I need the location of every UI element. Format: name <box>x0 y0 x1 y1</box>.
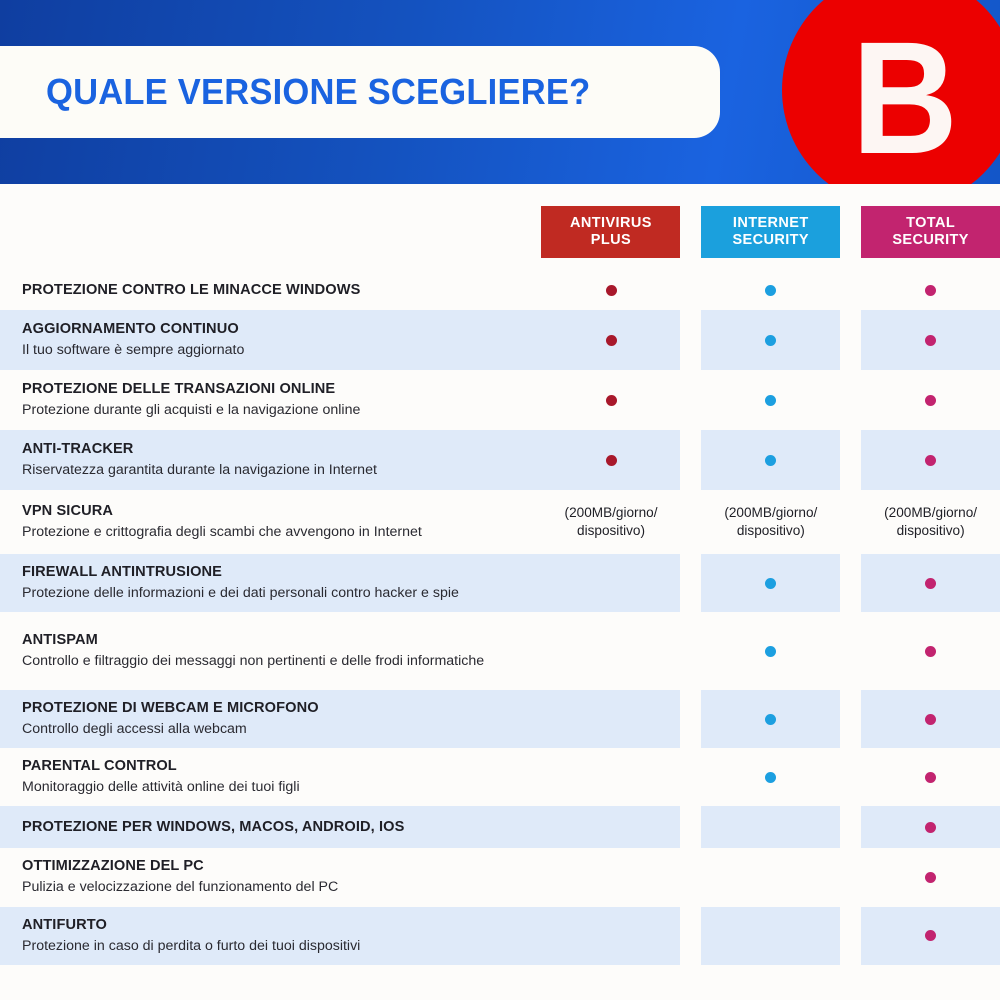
feature-title: PROTEZIONE DI WEBCAM E MICROFONO <box>22 699 526 718</box>
value-cell-total-security <box>861 270 1000 310</box>
cell-text: (200MB/giorno/ dispositivo) <box>861 504 1000 539</box>
page-header: QUALE VERSIONE SCEGLIERE? B <box>0 0 1000 184</box>
column-header-total-security[interactable]: TOTAL SECURITY <box>861 206 1000 258</box>
feature-subtitle: Controllo e filtraggio dei messaggi non … <box>22 652 526 671</box>
value-cell-antivirus-plus <box>542 270 681 310</box>
table-row: FIREWALL ANTINTRUSIONEProtezione delle i… <box>0 554 1000 612</box>
column-header-line2: SECURITY <box>732 232 809 249</box>
table-row: OTTIMIZZAZIONE DEL PCPulizia e velocizza… <box>0 848 1000 906</box>
comparison-infographic: QUALE VERSIONE SCEGLIERE? B ANTIVIRUS PL… <box>0 0 1000 1000</box>
check-dot-icon <box>765 455 776 466</box>
feature-title: FIREWALL ANTINTRUSIONE <box>22 563 526 582</box>
value-cell-internet-security <box>701 554 840 612</box>
value-cell-internet-security <box>701 430 840 490</box>
column-header-antivirus-plus[interactable]: ANTIVIRUS PLUS <box>541 206 680 258</box>
feature-subtitle: Protezione durante gli acquisti e la nav… <box>22 401 526 420</box>
check-dot-icon <box>765 335 776 346</box>
value-cell-antivirus-plus <box>542 848 681 906</box>
value-cell-total-security <box>861 310 1000 370</box>
feature-cell: PROTEZIONE PER WINDOWS, MACOS, ANDROID, … <box>0 806 542 848</box>
check-dot-icon <box>925 455 936 466</box>
bitdefender-logo-icon: B <box>782 0 1000 184</box>
value-cell-internet-security <box>701 748 840 806</box>
value-cell-total-security <box>861 690 1000 748</box>
feature-title: ANTIFURTO <box>22 916 526 935</box>
value-cell-total-security <box>861 806 1000 848</box>
value-cell-antivirus-plus <box>542 748 681 806</box>
feature-cell: ANTISPAMControllo e filtraggio dei messa… <box>0 612 542 690</box>
value-cell-internet-security <box>701 310 840 370</box>
value-cell-total-security <box>861 612 1000 690</box>
value-cell-antivirus-plus: (200MB/giorno/ dispositivo) <box>542 490 681 554</box>
feature-cell: ANTIFURTOProtezione in caso di perdita o… <box>0 907 542 965</box>
value-cell-antivirus-plus <box>542 690 681 748</box>
check-dot-icon <box>925 772 936 783</box>
check-dot-icon <box>765 395 776 406</box>
value-cell-antivirus-plus <box>542 554 681 612</box>
value-cell-total-security: (200MB/giorno/ dispositivo) <box>861 490 1000 554</box>
feature-subtitle: Controllo degli accessi alla webcam <box>22 720 526 739</box>
feature-title: VPN SICURA <box>22 502 526 521</box>
feature-subtitle: Pulizia e velocizzazione del funzionamen… <box>22 878 526 897</box>
value-cell-total-security <box>861 748 1000 806</box>
table-row: PROTEZIONE DI WEBCAM E MICROFONOControll… <box>0 690 1000 748</box>
check-dot-icon <box>765 285 776 296</box>
value-cell-antivirus-plus <box>542 806 681 848</box>
value-cell-internet-security <box>701 690 840 748</box>
feature-title: PROTEZIONE CONTRO LE MINACCE WINDOWS <box>22 281 526 300</box>
feature-subtitle: Il tuo software è sempre aggiornato <box>22 341 526 360</box>
column-header-line1: ANTIVIRUS <box>570 215 652 232</box>
cell-text: (200MB/giorno/ dispositivo) <box>542 504 681 539</box>
value-cell-internet-security <box>701 907 840 965</box>
value-cell-total-security <box>861 370 1000 430</box>
table-row: ANTIFURTOProtezione in caso di perdita o… <box>0 907 1000 965</box>
value-cell-antivirus-plus <box>542 612 681 690</box>
feature-title: ANTI-TRACKER <box>22 440 526 459</box>
table-row: PROTEZIONE DELLE TRANSAZIONI ONLINEProte… <box>0 370 1000 430</box>
value-cell-total-security <box>861 554 1000 612</box>
check-dot-icon <box>925 578 936 589</box>
feature-title: PARENTAL CONTROL <box>22 757 526 776</box>
feature-cell: OTTIMIZZAZIONE DEL PCPulizia e velocizza… <box>0 848 542 906</box>
check-dot-icon <box>765 578 776 589</box>
check-dot-icon <box>765 772 776 783</box>
value-cell-internet-security <box>701 370 840 430</box>
table-row: PROTEZIONE CONTRO LE MINACCE WINDOWS <box>0 270 1000 310</box>
header-spacer <box>0 206 541 258</box>
check-dot-icon <box>606 455 617 466</box>
table-row: PROTEZIONE PER WINDOWS, MACOS, ANDROID, … <box>0 806 1000 848</box>
cell-text: (200MB/giorno/ dispositivo) <box>701 504 840 539</box>
check-dot-icon <box>925 872 936 883</box>
feature-cell: PROTEZIONE DELLE TRANSAZIONI ONLINEProte… <box>0 370 542 430</box>
column-header-line1: TOTAL <box>906 215 955 232</box>
check-dot-icon <box>606 335 617 346</box>
check-dot-icon <box>925 285 936 296</box>
value-cell-total-security <box>861 907 1000 965</box>
feature-subtitle: Protezione e crittografia degli scambi c… <box>22 523 526 542</box>
feature-title: AGGIORNAMENTO CONTINUO <box>22 320 526 339</box>
check-dot-icon <box>765 714 776 725</box>
table-row: ANTISPAMControllo e filtraggio dei messa… <box>0 612 1000 690</box>
check-dot-icon <box>925 714 936 725</box>
page-title: QUALE VERSIONE SCEGLIERE? <box>46 71 590 113</box>
value-cell-internet-security <box>701 612 840 690</box>
value-cell-antivirus-plus <box>542 310 681 370</box>
table-row: PARENTAL CONTROLMonitoraggio delle attiv… <box>0 748 1000 806</box>
check-dot-icon <box>925 822 936 833</box>
check-dot-icon <box>925 930 936 941</box>
check-dot-icon <box>925 646 936 657</box>
check-dot-icon <box>606 285 617 296</box>
feature-subtitle: Monitoraggio delle attività online dei t… <box>22 778 526 797</box>
value-cell-internet-security <box>701 270 840 310</box>
column-header-line2: SECURITY <box>892 232 969 249</box>
column-header-line1: INTERNET <box>733 215 809 232</box>
check-dot-icon <box>765 646 776 657</box>
feature-cell: ANTI-TRACKERRiservatezza garantita duran… <box>0 430 542 490</box>
value-cell-internet-security: (200MB/giorno/ dispositivo) <box>701 490 840 554</box>
logo-letter: B <box>852 18 958 178</box>
table-row: VPN SICURAProtezione e crittografia degl… <box>0 490 1000 554</box>
value-cell-antivirus-plus <box>542 907 681 965</box>
feature-cell: FIREWALL ANTINTRUSIONEProtezione delle i… <box>0 554 542 612</box>
value-cell-total-security <box>861 430 1000 490</box>
value-cell-internet-security <box>701 848 840 906</box>
feature-cell: PROTEZIONE CONTRO LE MINACCE WINDOWS <box>0 270 542 310</box>
value-cell-total-security <box>861 848 1000 906</box>
check-dot-icon <box>606 395 617 406</box>
feature-subtitle: Riservatezza garantita durante la naviga… <box>22 461 526 480</box>
feature-cell: VPN SICURAProtezione e crittografia degl… <box>0 490 542 554</box>
feature-cell: PARENTAL CONTROLMonitoraggio delle attiv… <box>0 748 542 806</box>
feature-subtitle: Protezione delle informazioni e dei dati… <box>22 584 526 603</box>
feature-subtitle: Protezione in caso di perdita o furto de… <box>22 937 526 956</box>
value-cell-antivirus-plus <box>542 430 681 490</box>
value-cell-internet-security <box>701 806 840 848</box>
title-banner: QUALE VERSIONE SCEGLIERE? <box>0 46 720 138</box>
comparison-table: ANTIVIRUS PLUS INTERNET SECURITY TOTAL S… <box>0 184 1000 1000</box>
table-row: ANTI-TRACKERRiservatezza garantita duran… <box>0 430 1000 490</box>
column-header-line2: PLUS <box>591 232 631 249</box>
feature-title: PROTEZIONE PER WINDOWS, MACOS, ANDROID, … <box>22 818 526 837</box>
feature-cell: AGGIORNAMENTO CONTINUOIl tuo software è … <box>0 310 542 370</box>
check-dot-icon <box>925 335 936 346</box>
column-header-internet-security[interactable]: INTERNET SECURITY <box>701 206 840 258</box>
feature-cell: PROTEZIONE DI WEBCAM E MICROFONOControll… <box>0 690 542 748</box>
feature-title: OTTIMIZZAZIONE DEL PC <box>22 857 526 876</box>
table-row: AGGIORNAMENTO CONTINUOIl tuo software è … <box>0 310 1000 370</box>
feature-rows: PROTEZIONE CONTRO LE MINACCE WINDOWSAGGI… <box>0 270 1000 965</box>
check-dot-icon <box>925 395 936 406</box>
column-headers: ANTIVIRUS PLUS INTERNET SECURITY TOTAL S… <box>0 206 1000 258</box>
value-cell-antivirus-plus <box>542 370 681 430</box>
feature-title: PROTEZIONE DELLE TRANSAZIONI ONLINE <box>22 380 526 399</box>
feature-title: ANTISPAM <box>22 631 526 650</box>
